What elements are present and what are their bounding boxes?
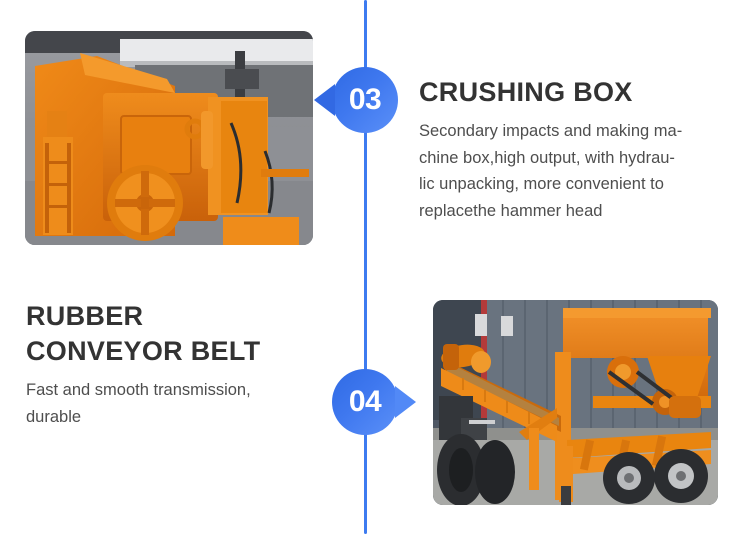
step-badge-03[interactable]: 03 bbox=[332, 67, 398, 133]
crushing-box-photo-illustration bbox=[25, 31, 313, 245]
rubber-conveyor-belt-photo-illustration bbox=[433, 300, 718, 505]
step-04-title: RUBBER CONVEYOR BELT bbox=[26, 299, 260, 368]
step-03-title: CRUSHING BOX bbox=[419, 75, 633, 110]
step-03-description: Secondary impacts and making ma- chine b… bbox=[419, 118, 739, 225]
step-badge-03-number: 03 bbox=[349, 85, 381, 115]
crushing-box-photo bbox=[25, 31, 313, 245]
feature-timeline-graphic: 03 CRUSHING BOX Secondary impacts and ma… bbox=[0, 0, 750, 534]
step-badge-04-number: 04 bbox=[349, 387, 381, 417]
rubber-conveyor-belt-photo bbox=[433, 300, 718, 505]
step-04-description: Fast and smooth transmission, durable bbox=[26, 377, 316, 430]
step-badge-04[interactable]: 04 bbox=[332, 369, 398, 435]
